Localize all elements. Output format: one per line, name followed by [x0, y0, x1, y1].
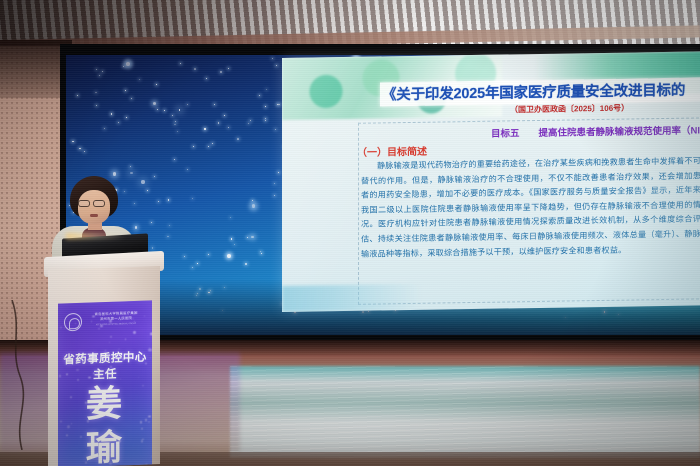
presentation-slide: 《关于印发2025年国家医疗质量安全改进目标的 （国卫办医政函〔2025〕106… — [282, 51, 700, 312]
slide-footer-decoration — [282, 284, 422, 312]
laptop-screen-glow — [66, 233, 126, 239]
presenter-face — [78, 190, 110, 224]
floor-reflection-lines — [230, 366, 700, 458]
podium-led-nameplate: 青岛医科大学附属医疗集团 滨州市第一人民医院 AFFILIATED HOSPIT… — [58, 300, 152, 466]
podium-cable — [8, 300, 42, 450]
slide-goal-heading: 目标五 提高住院患者静脉输液规范使用率（NIT-2025- — [491, 122, 700, 140]
nameplate-title: 省药事质控中心主任 — [58, 348, 152, 383]
eyeglasses-icon — [78, 200, 90, 207]
conference-hall-photo: 《关于印发2025年国家医疗质量安全改进目标的 （国卫办医政函〔2025〕106… — [0, 0, 700, 466]
slide-content-box: 目标五 提高住院患者静脉输液规范使用率（NIT-2025- （一）目标简述 静脉… — [358, 117, 700, 304]
hospital-name: 青岛医科大学附属医疗集团 滨州市第一人民医院 — [85, 311, 147, 324]
slide-body-text: 静脉输液是现代药物治疗的重要给药途径，在治疗某些疾病和挽救患者生命中发挥着不可替… — [361, 154, 700, 261]
eyeglasses-icon — [93, 200, 105, 207]
slide-section-heading: （一）目标简述 — [357, 143, 427, 159]
slide-document-number: （国卫办医政函〔2025〕106号） — [510, 103, 629, 116]
presenter-mouth — [90, 214, 98, 217]
nameplate-person-name: 姜瑜 — [58, 380, 152, 466]
